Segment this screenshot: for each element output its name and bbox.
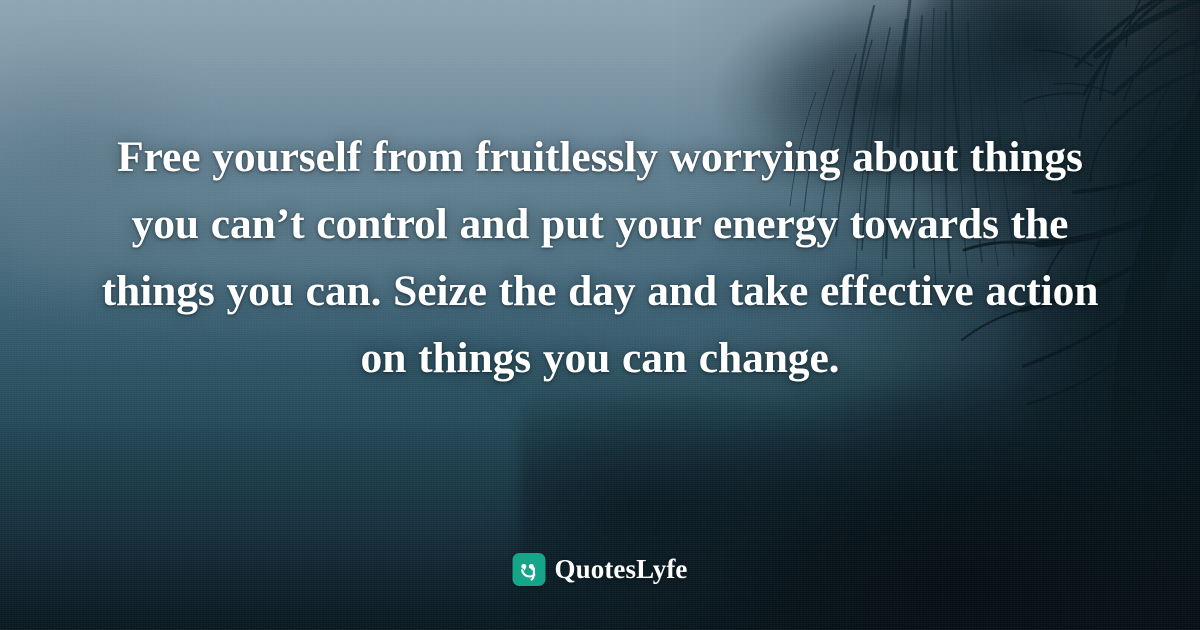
quote-text: Free yourself from fruitlessly worrying … xyxy=(95,124,1105,392)
quote-card: Free yourself from fruitlessly worrying … xyxy=(0,0,1200,630)
brand-lockup[interactable]: QuotesLyfe xyxy=(513,553,688,586)
quote-smiley-icon xyxy=(513,553,546,586)
brand-name: QuotesLyfe xyxy=(555,556,688,583)
quote-block: Free yourself from fruitlessly worrying … xyxy=(95,124,1105,392)
